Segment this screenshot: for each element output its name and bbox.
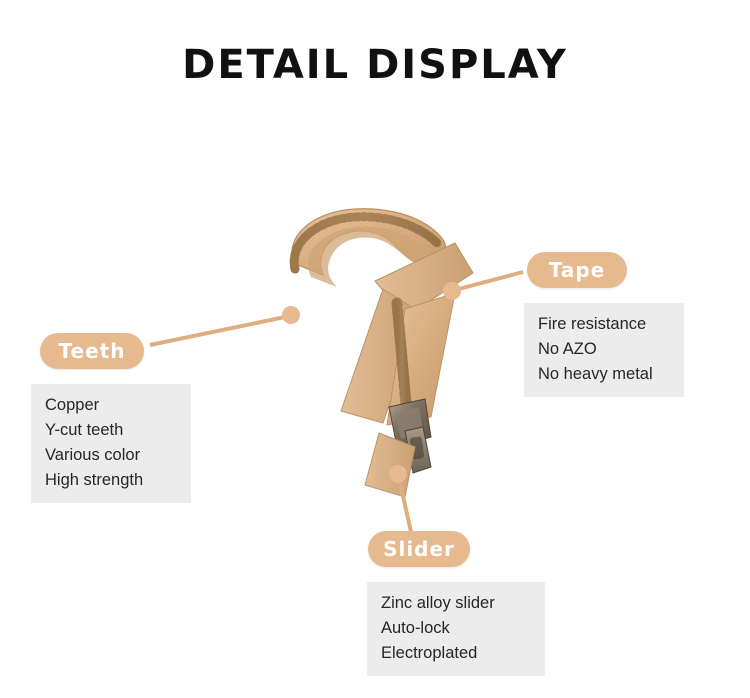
zipper-product-image (255, 185, 515, 505)
callout-box-slider: Zinc alloy slider Auto-lock Electroplate… (367, 582, 545, 676)
callout-pill-tape[interactable]: Tape (527, 252, 627, 288)
callout-teeth-line-2: Y-cut teeth (45, 418, 177, 443)
callout-tape-line-1: Fire resistance (538, 312, 670, 337)
callout-pill-slider[interactable]: Slider (368, 531, 470, 567)
callout-tape-line-3: No heavy metal (538, 362, 670, 387)
callout-slider-line-3: Electroplated (381, 641, 531, 666)
page-title: DETAIL DISPLAY (0, 42, 750, 88)
callout-slider-line-1: Zinc alloy slider (381, 591, 531, 616)
callout-tape-line-2: No AZO (538, 337, 670, 362)
callout-box-teeth: Copper Y-cut teeth Various color High st… (31, 384, 191, 503)
callout-box-tape: Fire resistance No AZO No heavy metal (524, 303, 684, 397)
callout-teeth-line-4: High strength (45, 468, 177, 493)
callout-pill-slider-label: Slider (383, 537, 455, 561)
callout-pill-teeth[interactable]: Teeth (40, 333, 144, 369)
detail-display-page: DETAIL DISPLAY (0, 0, 750, 698)
callout-slider-line-2: Auto-lock (381, 616, 531, 641)
callout-teeth-line-1: Copper (45, 393, 177, 418)
callout-pill-tape-label: Tape (549, 258, 605, 282)
callout-teeth-line-3: Various color (45, 443, 177, 468)
callout-pill-teeth-label: Teeth (59, 339, 126, 363)
